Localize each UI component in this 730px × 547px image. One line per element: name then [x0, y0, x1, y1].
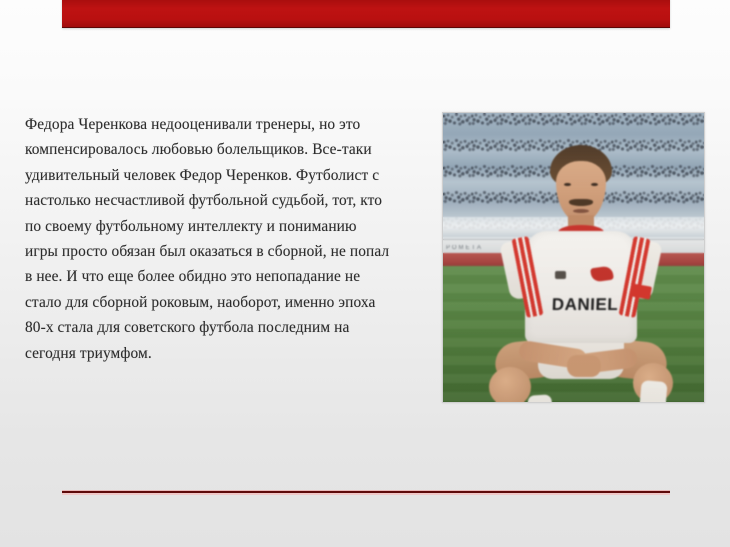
banner-bottom-edge — [62, 27, 670, 28]
top-red-banner — [62, 0, 670, 28]
footballer-photograph: РОМЕТА — [442, 112, 705, 403]
photo-grain-overlay — [443, 113, 704, 402]
bottom-red-rule — [62, 490, 670, 495]
presentation-slide: Федора Черенкова недооценивали тренеры, … — [0, 0, 730, 547]
rule-highlight-bottom — [62, 493, 670, 495]
body-paragraph: Федора Черенкова недооценивали тренеры, … — [25, 112, 390, 366]
